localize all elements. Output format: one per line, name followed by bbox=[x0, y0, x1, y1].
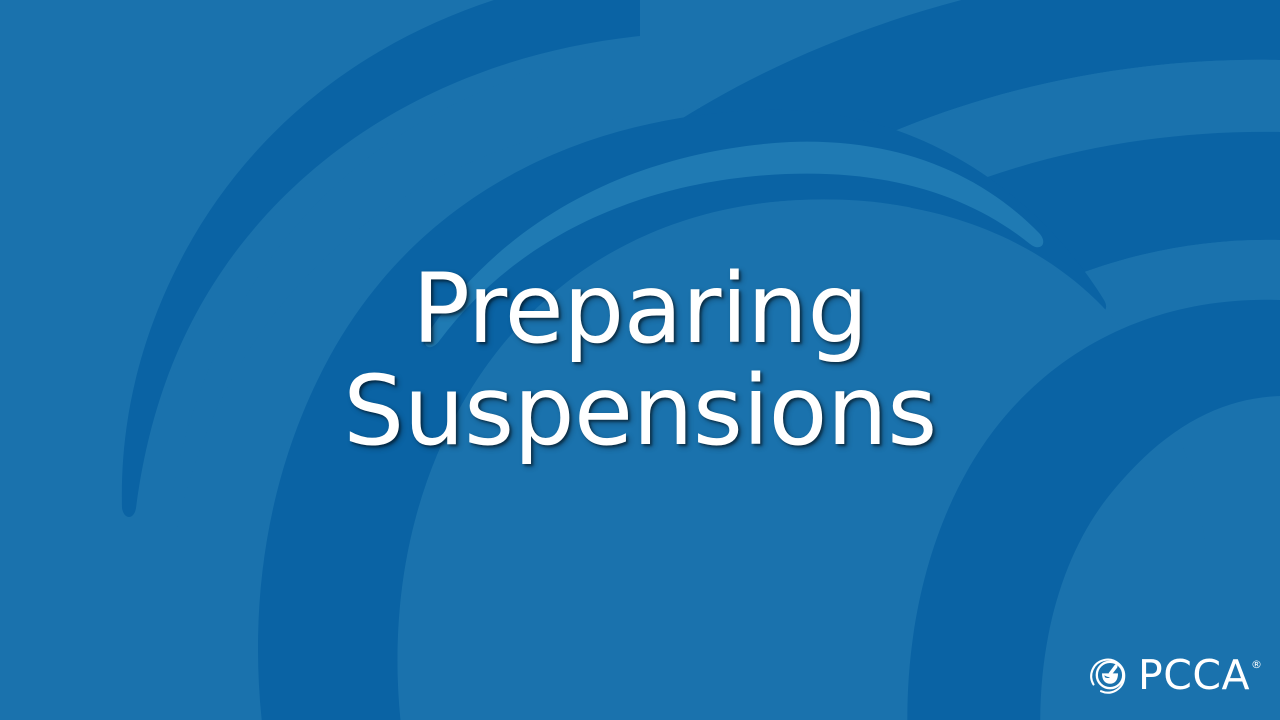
pcca-wordmark: PCCA bbox=[1138, 655, 1250, 696]
presentation-slide: Preparing Suspensions PCCA ® bbox=[0, 0, 1280, 720]
background-swirl-graphic bbox=[0, 0, 1280, 720]
mortar-and-pestle-icon bbox=[1085, 651, 1133, 699]
registered-trademark-symbol: ® bbox=[1251, 659, 1262, 670]
pcca-wordmark-group: PCCA ® bbox=[1138, 655, 1262, 696]
pcca-logo: PCCA ® bbox=[1085, 648, 1262, 702]
